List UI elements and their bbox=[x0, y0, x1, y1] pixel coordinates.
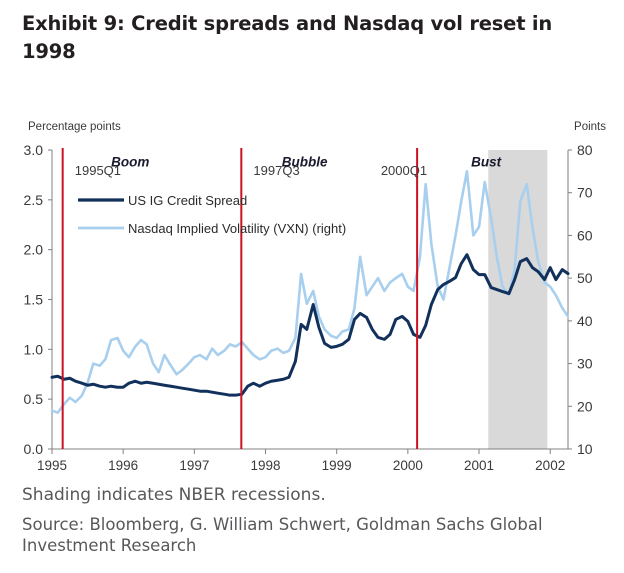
legend-label-credit-spread: US IG Credit Spread bbox=[128, 193, 247, 208]
right-axis-tick-label: 20 bbox=[577, 398, 593, 414]
left-axis-tick-label: 2.5 bbox=[24, 192, 44, 208]
right-axis-tick-label: 10 bbox=[577, 441, 593, 457]
left-axis-tick-label: 2.0 bbox=[24, 242, 44, 258]
x-axis-tick-label: 2001 bbox=[464, 458, 494, 473]
right-axis-tick-label: 40 bbox=[577, 313, 593, 329]
chart-container: Percentage pointsPoints0.00.51.01.52.02.… bbox=[0, 112, 624, 480]
x-axis-tick-label: 1999 bbox=[322, 458, 352, 473]
page-title: Exhibit 9: Credit spreads and Nasdaq vol… bbox=[22, 10, 606, 65]
vline-label-2000Q1: 2000Q1 bbox=[381, 163, 427, 178]
annotation-bust: Bust bbox=[471, 154, 502, 169]
x-axis-tick-label: 1995 bbox=[37, 458, 67, 473]
x-axis-tick-label: 1998 bbox=[250, 458, 280, 473]
left-axis-tick-label: 1.5 bbox=[24, 292, 44, 308]
right-axis-title: Points bbox=[574, 121, 606, 133]
left-axis-tick-label: 3.0 bbox=[24, 142, 44, 158]
shading-note: Shading indicates NBER recessions. bbox=[22, 484, 612, 507]
left-axis-tick-label: 0.5 bbox=[24, 391, 44, 407]
legend-label-vxn: Nasdaq Implied Volatility (VXN) (right) bbox=[128, 221, 346, 236]
chart-page: Exhibit 9: Credit spreads and Nasdaq vol… bbox=[0, 0, 624, 573]
right-axis-tick-label: 60 bbox=[577, 227, 593, 243]
x-axis-tick-label: 2002 bbox=[535, 458, 565, 473]
right-axis-tick-label: 70 bbox=[577, 185, 593, 201]
source-note: Source: Bloomberg, G. William Schwert, G… bbox=[22, 514, 612, 557]
right-axis-tick-label: 50 bbox=[577, 270, 593, 286]
nber-recession-2001 bbox=[488, 150, 547, 449]
annotation-boom: Boom bbox=[111, 154, 149, 169]
left-axis-tick-label: 0.0 bbox=[24, 441, 44, 457]
right-axis-tick-label: 80 bbox=[577, 142, 593, 158]
footer: Shading indicates NBER recessions. Sourc… bbox=[22, 484, 612, 557]
left-axis-tick-label: 1.0 bbox=[24, 341, 44, 357]
x-axis-tick-label: 2000 bbox=[393, 458, 423, 473]
annotation-bubble: Bubble bbox=[282, 154, 328, 169]
x-axis-tick-label: 1996 bbox=[108, 458, 138, 473]
credit-spread-vxn-chart: Percentage pointsPoints0.00.51.01.52.02.… bbox=[0, 112, 624, 480]
x-axis-tick-label: 1997 bbox=[179, 458, 209, 473]
left-axis-title: Percentage points bbox=[28, 121, 121, 133]
right-axis-tick-label: 30 bbox=[577, 356, 593, 372]
